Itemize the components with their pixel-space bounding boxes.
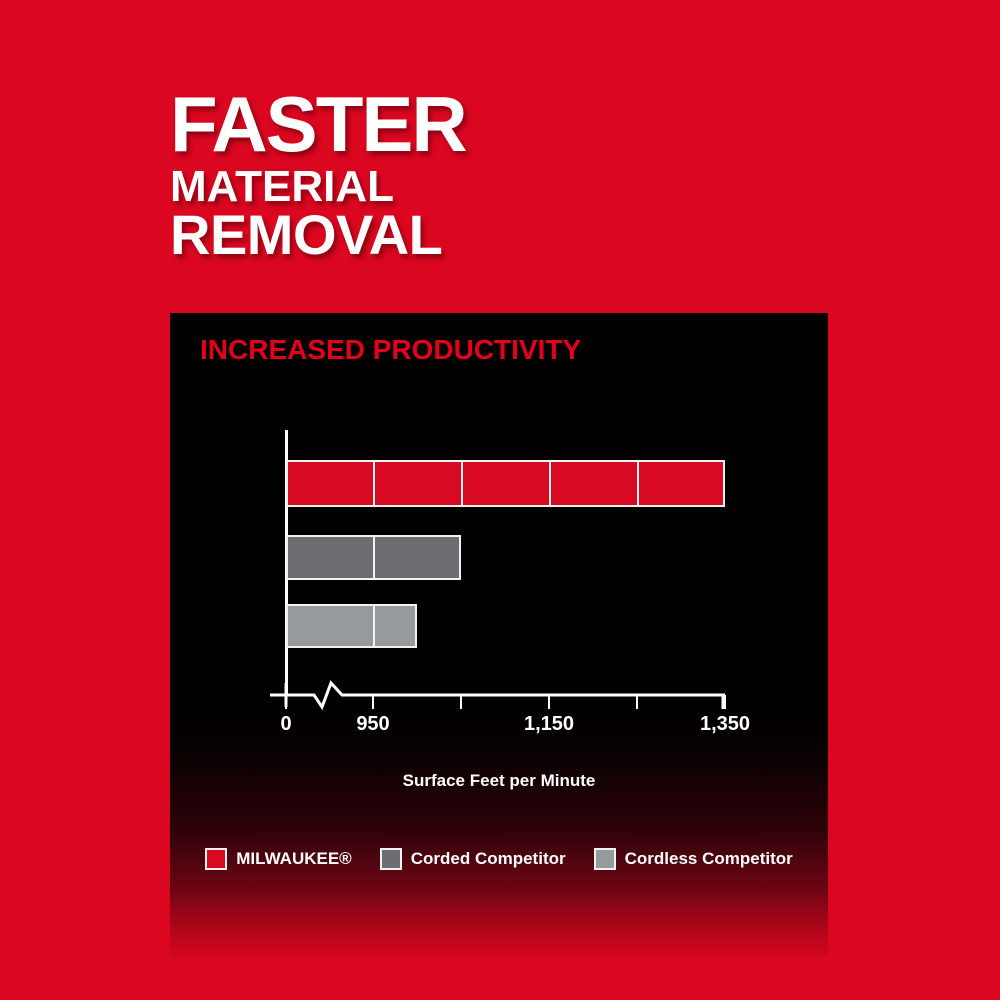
bar-milwaukee[interactable] — [286, 460, 725, 507]
legend-label-milwaukee: MILWAUKEE® — [236, 849, 351, 869]
legend-swatch-milwaukee — [205, 848, 227, 870]
x-axis-tick-label: 1,150 — [524, 713, 574, 736]
legend-label-corded-competitor: Corded Competitor — [411, 849, 566, 869]
bar-segment — [639, 462, 727, 505]
headline-line-2: MATERIAL — [170, 167, 870, 208]
bar-segment — [375, 462, 463, 505]
x-axis-tick-label: 950 — [356, 713, 389, 736]
bar-segment — [375, 606, 419, 646]
x-axis-tick — [460, 695, 462, 709]
headline-block: FASTER MATERIAL REMOVAL — [170, 88, 870, 262]
chart-legend: MILWAUKEE® Corded Competitor Cordless Co… — [170, 848, 828, 870]
x-axis-tick-label: 0 — [280, 713, 291, 736]
bar-segment — [375, 537, 463, 578]
legend-swatch-corded-competitor — [380, 848, 402, 870]
bar-cordless-competitor[interactable] — [286, 604, 417, 648]
bar-segment — [463, 462, 551, 505]
x-axis-tick — [636, 695, 638, 709]
bar-segment — [288, 606, 375, 646]
bar-corded-competitor[interactable] — [286, 535, 461, 580]
x-axis-tick — [285, 695, 287, 709]
bar-segment — [288, 537, 375, 578]
bar-segment — [288, 462, 375, 505]
headline-line-1: FASTER — [170, 88, 870, 161]
x-axis-title: Surface Feet per Minute — [170, 771, 828, 791]
x-axis-tick — [548, 695, 550, 709]
legend-swatch-cordless-competitor — [594, 848, 616, 870]
legend-item-corded-competitor[interactable]: Corded Competitor — [380, 848, 566, 870]
legend-item-cordless-competitor[interactable]: Cordless Competitor — [594, 848, 793, 870]
legend-item-milwaukee[interactable]: MILWAUKEE® — [205, 848, 351, 870]
headline-line-3: REMOVAL — [170, 209, 870, 261]
bar-segment — [551, 462, 639, 505]
x-axis-tick — [372, 695, 374, 709]
chart-panel: INCREASED PRODUCTIVITY 09501,1501,350 Su… — [170, 313, 828, 958]
x-axis-tick-label: 1,350 — [700, 713, 750, 736]
plot-area: 09501,1501,350 Surface Feet per Minute M… — [170, 313, 828, 958]
x-axis-tick — [724, 695, 726, 709]
x-axis — [170, 678, 828, 718]
legend-label-cordless-competitor: Cordless Competitor — [625, 849, 793, 869]
